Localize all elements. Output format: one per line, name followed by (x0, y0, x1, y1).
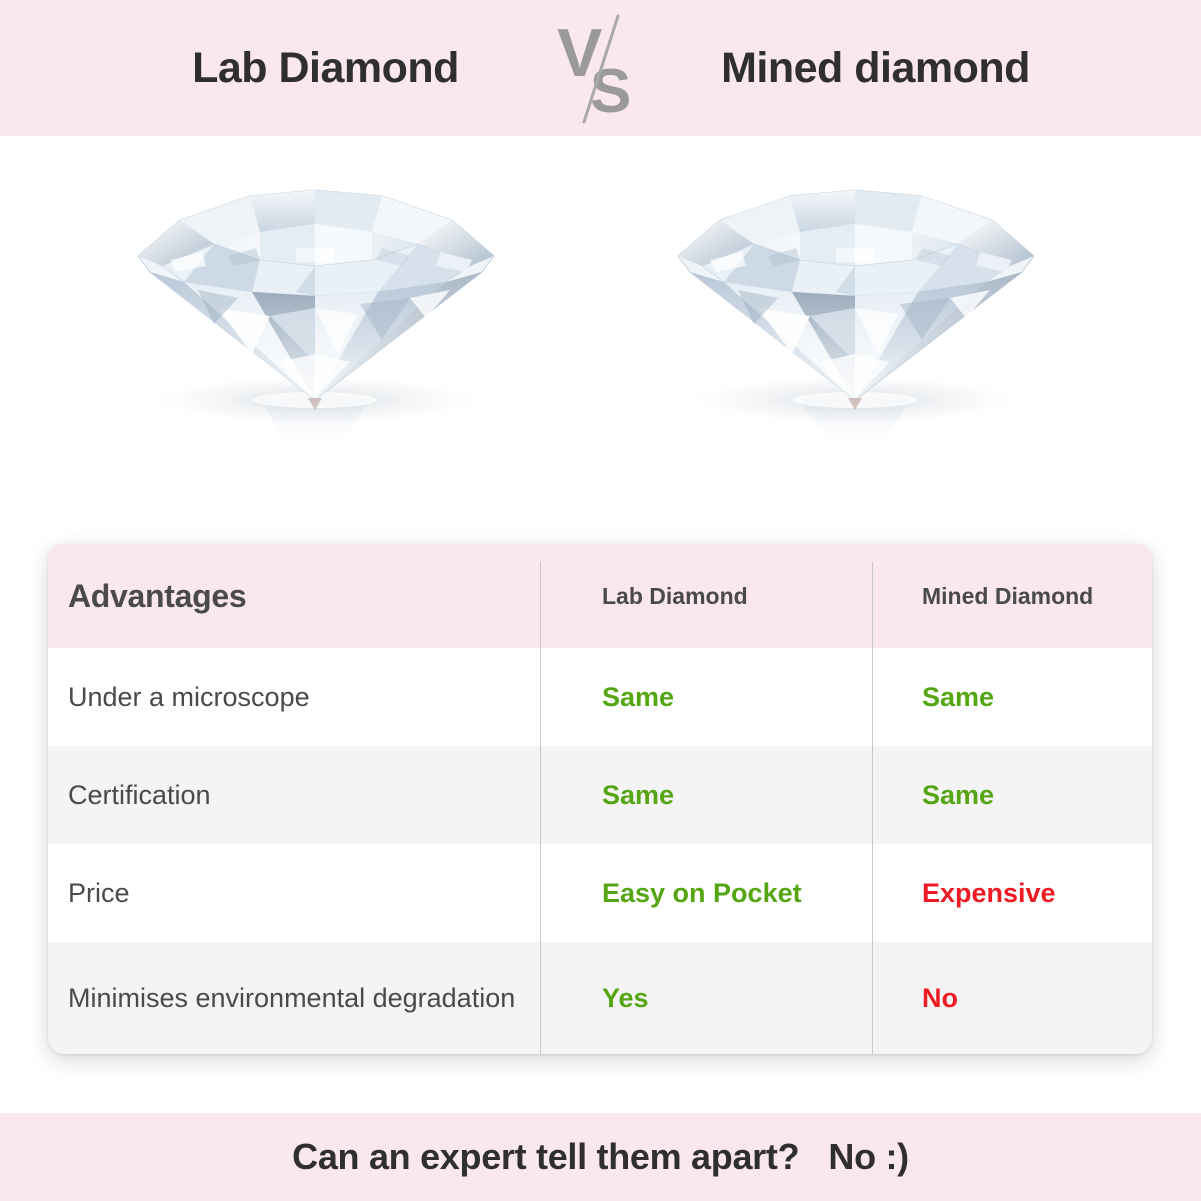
column-divider-1 (540, 844, 541, 942)
column-divider-2 (872, 746, 873, 844)
svg-text:S: S (590, 57, 631, 126)
mined-value: Same (872, 648, 1152, 746)
diamond-stage (0, 136, 1201, 536)
column-header-mined-diamond: Mined Diamond (872, 544, 1152, 648)
mined-value: Same (872, 746, 1152, 844)
column-divider-1 (540, 746, 541, 844)
mined-diamond-image (650, 148, 1070, 458)
lab-value: Yes (540, 942, 872, 1054)
lab-diamond-image (110, 148, 530, 458)
footer-question: Can an expert tell them apart? No :) (292, 1136, 909, 1178)
lab-value: Easy on Pocket (540, 844, 872, 942)
feature-label: Under a microscope (48, 648, 540, 746)
mined-value: Expensive (872, 844, 1152, 942)
column-divider-2 (872, 844, 873, 942)
table-row: Minimises environmental degradation Yes … (48, 942, 1152, 1054)
header-band: Lab Diamond V S Mined diamond (0, 0, 1201, 136)
mined-value: No (872, 942, 1152, 1054)
table-row: Under a microscope Same Same (48, 648, 1152, 746)
footer-band: Can an expert tell them apart? No :) (0, 1113, 1201, 1201)
comparison-card: Advantages Lab Diamond Mined Diamond Und… (48, 544, 1152, 1054)
feature-label: Certification (48, 746, 540, 844)
column-divider-2 (872, 942, 873, 1054)
vs-letters: V S (557, 15, 631, 126)
table-header-row: Advantages Lab Diamond Mined Diamond (48, 544, 1152, 648)
column-divider-1 (540, 942, 541, 1054)
column-divider-1 (540, 562, 541, 648)
vs-badge: V S (541, 8, 661, 128)
table-row: Certification Same Same (48, 746, 1152, 844)
feature-label: Price (48, 844, 540, 942)
column-header-lab-diamond: Lab Diamond (540, 544, 872, 648)
column-divider-2 (872, 562, 873, 648)
lab-value: Same (540, 746, 872, 844)
lab-value: Same (540, 648, 872, 746)
header-title-lab: Lab Diamond (111, 44, 541, 93)
table-row: Price Easy on Pocket Expensive (48, 844, 1152, 942)
column-divider-2 (872, 648, 873, 746)
feature-label: Minimises environmental degradation (48, 942, 540, 1054)
header-title-mined: Mined diamond (661, 44, 1091, 93)
column-header-advantages: Advantages (48, 544, 540, 648)
column-divider-1 (540, 648, 541, 746)
